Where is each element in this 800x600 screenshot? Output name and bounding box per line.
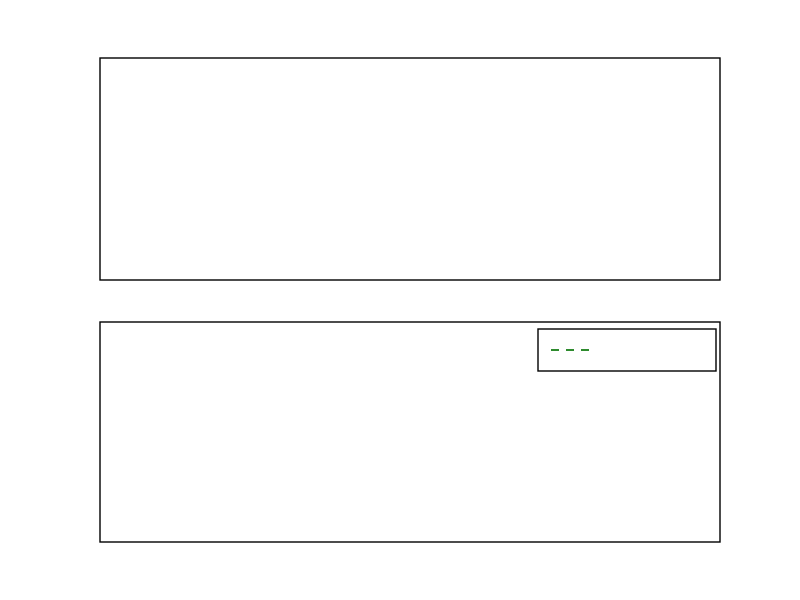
- figure-canvas: [0, 0, 800, 600]
- legend[interactable]: [538, 329, 716, 371]
- legend-frame: [538, 329, 716, 371]
- figure-background: [0, 0, 800, 600]
